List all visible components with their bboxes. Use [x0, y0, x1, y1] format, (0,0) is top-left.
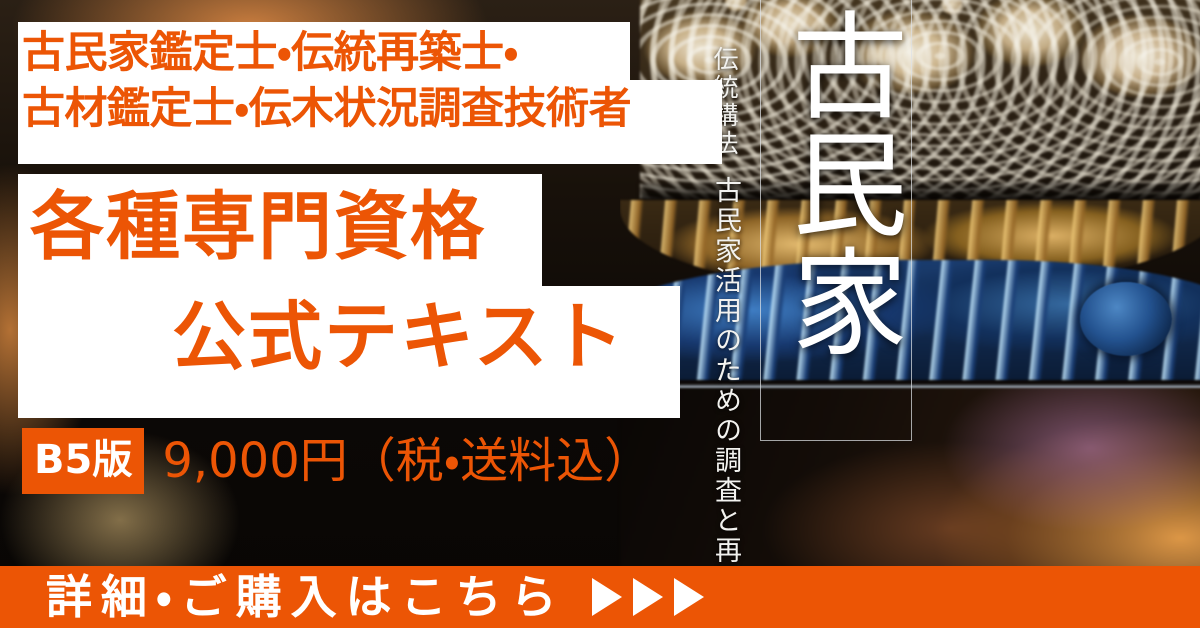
cta-label[interactable]: 詳細・ご購入はこちら	[46, 574, 566, 620]
family-crest-roundel-icon	[1080, 282, 1172, 356]
main-title-line-1: 各種専門資格	[30, 190, 486, 264]
cta-bar[interactable]: 詳細・ご購入はこちら	[0, 566, 1200, 628]
price-row: B5版 9,000円（税・送料込）	[22, 428, 652, 494]
chevron-right-icon	[674, 578, 704, 616]
price-amount: 9,000円（税・送料込）	[162, 437, 652, 485]
qualifications-headline: 古民家鑑定士・伝統再築士・ 古材鑑定士・伝木状況調査技術者	[22, 26, 728, 138]
chevron-right-icon	[592, 578, 622, 616]
chevron-right-icon	[633, 578, 663, 616]
format-badge: B5版	[22, 428, 144, 494]
cta-arrows	[592, 578, 704, 616]
headline-line-1: 古民家鑑定士・伝統再築士・	[22, 26, 728, 82]
promo-banner: 古民家 伝統構法 古民家活用のための調査と再生の 古民家鑑定士・伝統再築士・ 古…	[0, 0, 1200, 628]
headline-line-2: 古材鑑定士・伝木状況調査技術者	[22, 82, 728, 138]
cover-title: 古民家	[766, 6, 904, 360]
main-title-line-2: 公式テキスト	[172, 300, 626, 374]
